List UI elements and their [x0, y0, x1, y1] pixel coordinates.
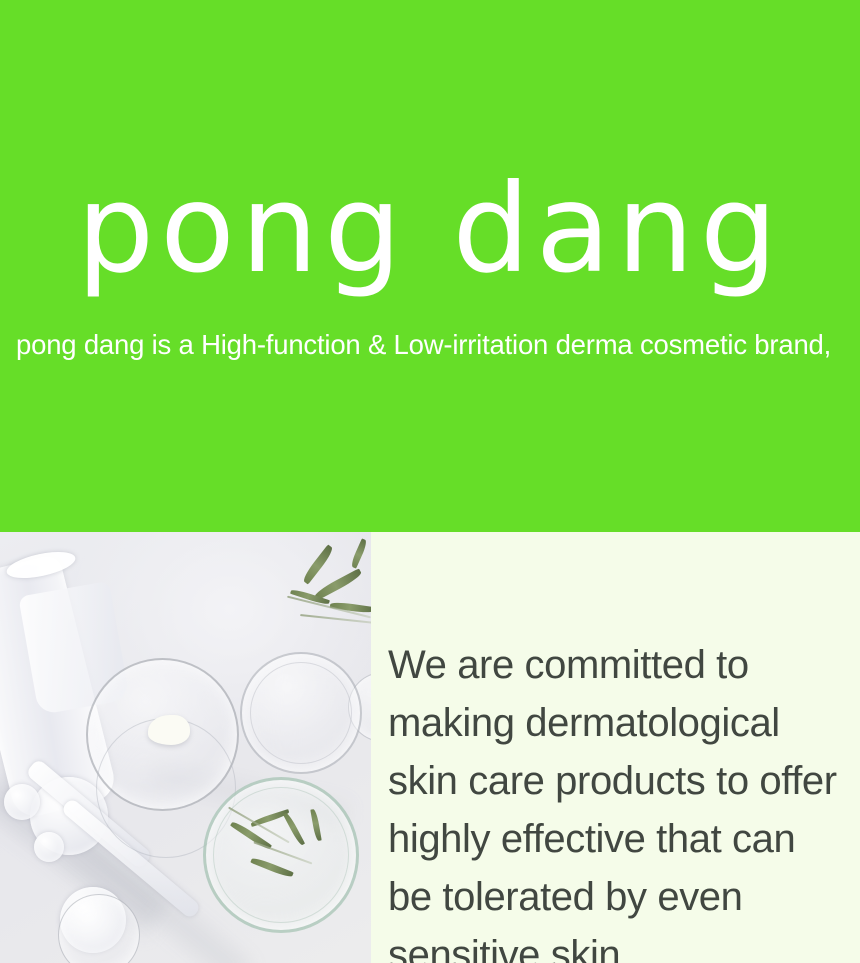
- mission-line: skin care products to offer: [388, 752, 860, 810]
- brand-logo-wordmark: pong dang: [0, 168, 860, 290]
- cream-dollop-icon: [148, 715, 190, 745]
- mission-line: be tolerated by even: [388, 868, 860, 926]
- petri-dish-inner-ring: [250, 662, 352, 764]
- hero-banner: pong dang pong dang is a High-function &…: [0, 0, 860, 532]
- mission-line: making dermatological: [388, 694, 860, 752]
- mission-statement-panel: We are committed to making dermatologica…: [371, 532, 860, 963]
- brand-tagline: pong dang is a High-function & Low-irrit…: [16, 327, 852, 363]
- brand-landing-page: pong dang pong dang is a High-function &…: [0, 0, 860, 963]
- dropper-bulb-icon: [4, 784, 40, 820]
- mission-line: We are committed to: [388, 636, 860, 694]
- mission-statement: We are committed to making dermatologica…: [388, 636, 860, 963]
- dropper-bulb-icon: [34, 832, 64, 862]
- mission-line: sensitive skin.: [388, 926, 860, 963]
- mission-line: highly effective that can: [388, 810, 860, 868]
- lab-photo: [0, 532, 371, 963]
- petri-dish-inner-ring: [213, 787, 349, 923]
- about-section: We are committed to making dermatologica…: [0, 532, 860, 963]
